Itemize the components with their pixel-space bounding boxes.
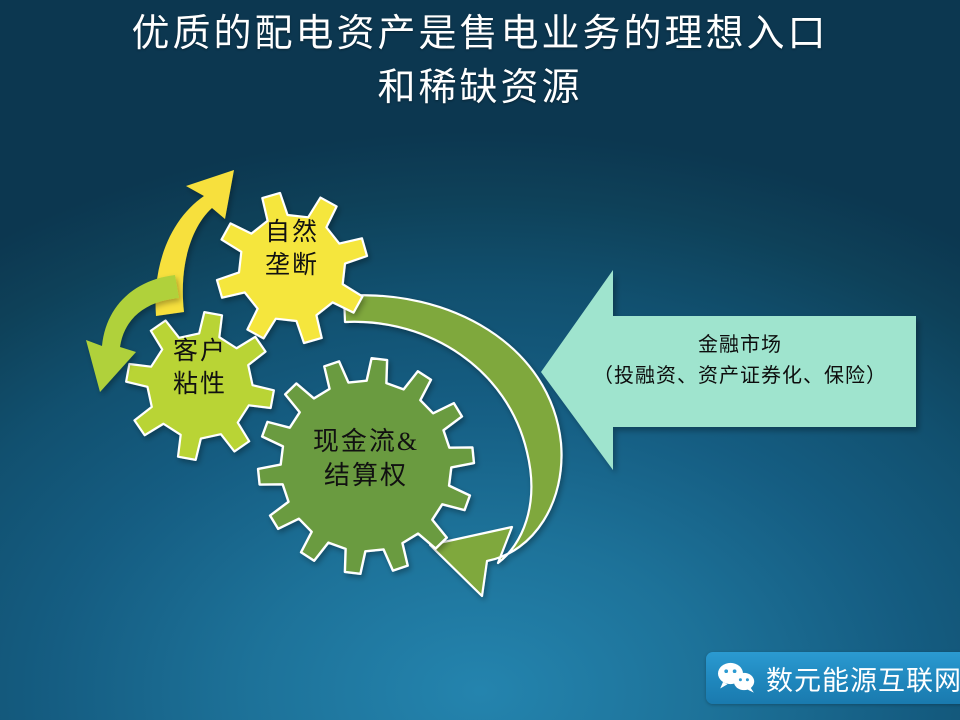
gear-customer-stickiness — [126, 312, 274, 460]
financial-market-arrow-banner — [541, 270, 916, 470]
wechat-icon — [716, 661, 756, 695]
gear-cashflow-settlement — [258, 358, 474, 574]
wechat-account-name: 数元能源互联网 — [766, 659, 960, 698]
wechat-watermark: 数元能源互联网 — [706, 652, 960, 704]
presentation-slide: 优质的配电资产是售电业务的理想入口 和稀缺资源 — [0, 0, 960, 720]
diagram-canvas — [0, 0, 960, 720]
